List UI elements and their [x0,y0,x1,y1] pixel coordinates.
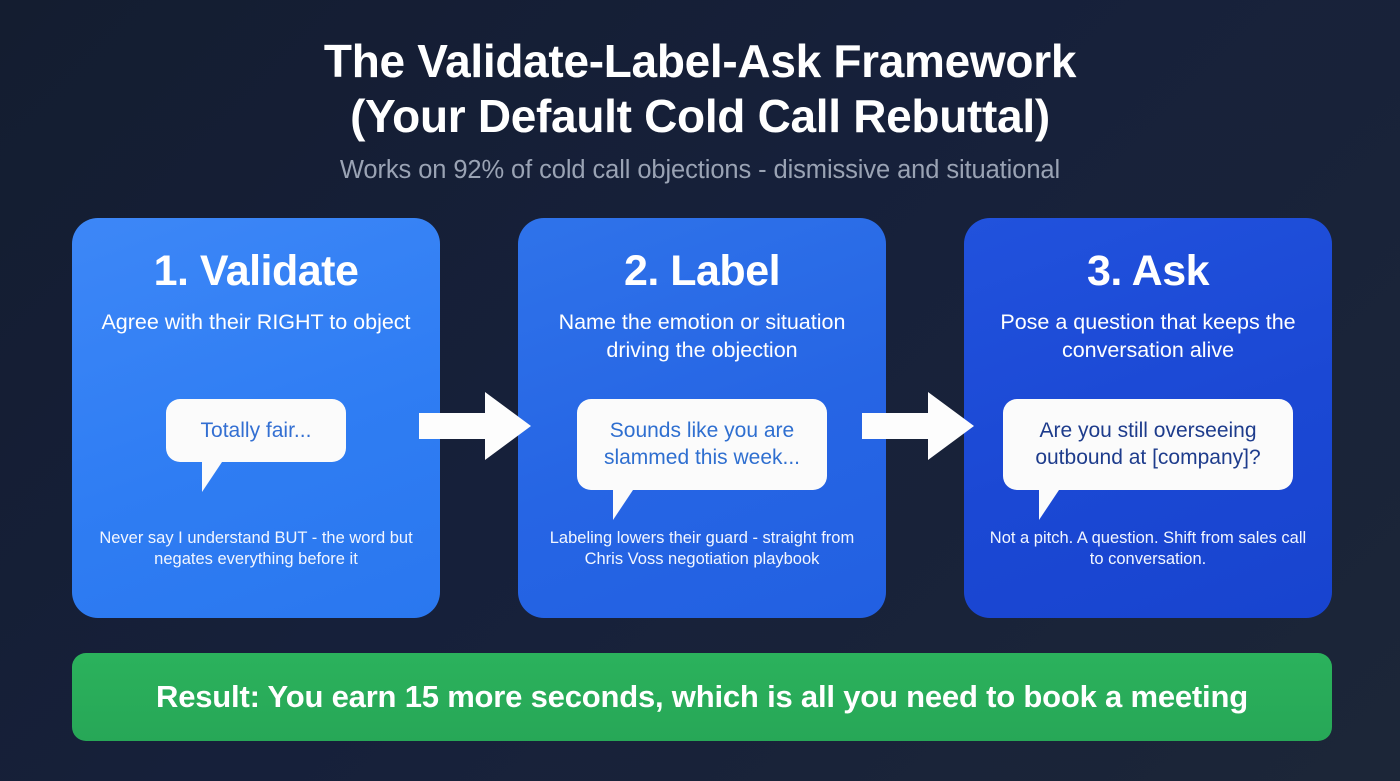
arrow-right-icon [415,386,535,466]
framework-poster: The Validate-Label-Ask Framework (Your D… [0,0,1400,781]
step-title: 1. Validate [154,248,359,295]
poster-header: The Validate-Label-Ask Framework (Your D… [0,0,1400,185]
step-card-label: 2. Label Name the emotion or situation d… [518,218,886,618]
step-card-validate: 1. Validate Agree with their RIGHT to ob… [72,218,440,618]
step-quote-area: Totally fair... [92,333,420,528]
step-quote-area: Are you still overseeing outbound at [co… [984,361,1312,528]
step-footnote: Labeling lowers their guard - straight f… [538,528,866,570]
step-footnote: Not a pitch. A question. Shift from sale… [984,528,1312,570]
page-title-line-2: (Your Default Cold Call Rebuttal) [110,89,1290,144]
step-card-ask: 3. Ask Pose a question that keeps the co… [964,218,1332,618]
speech-bubble: Totally fair... [166,399,346,463]
page-title: The Validate-Label-Ask Framework (Your D… [110,34,1290,143]
step-footnote: Never say I understand BUT - the word bu… [92,528,420,570]
page-subtitle: Works on 92% of cold call objections - d… [0,156,1400,185]
step-subtitle: Name the emotion or situation driving th… [538,309,866,365]
page-title-line-1: The Validate-Label-Ask Framework [110,34,1290,89]
step-subtitle: Pose a question that keeps the conversat… [984,309,1312,365]
speech-bubble: Are you still overseeing outbound at [co… [1003,399,1293,490]
arrow-right-icon [858,386,978,466]
result-text: Result: You earn 15 more seconds, which … [156,679,1248,715]
step-title: 3. Ask [1087,248,1209,295]
step-quote-area: Sounds like you are slammed this week... [538,361,866,528]
steps-row: 1. Validate Agree with their RIGHT to ob… [72,218,1332,618]
result-banner: Result: You earn 15 more seconds, which … [72,653,1332,741]
speech-bubble: Sounds like you are slammed this week... [577,399,827,490]
step-title: 2. Label [624,248,780,295]
